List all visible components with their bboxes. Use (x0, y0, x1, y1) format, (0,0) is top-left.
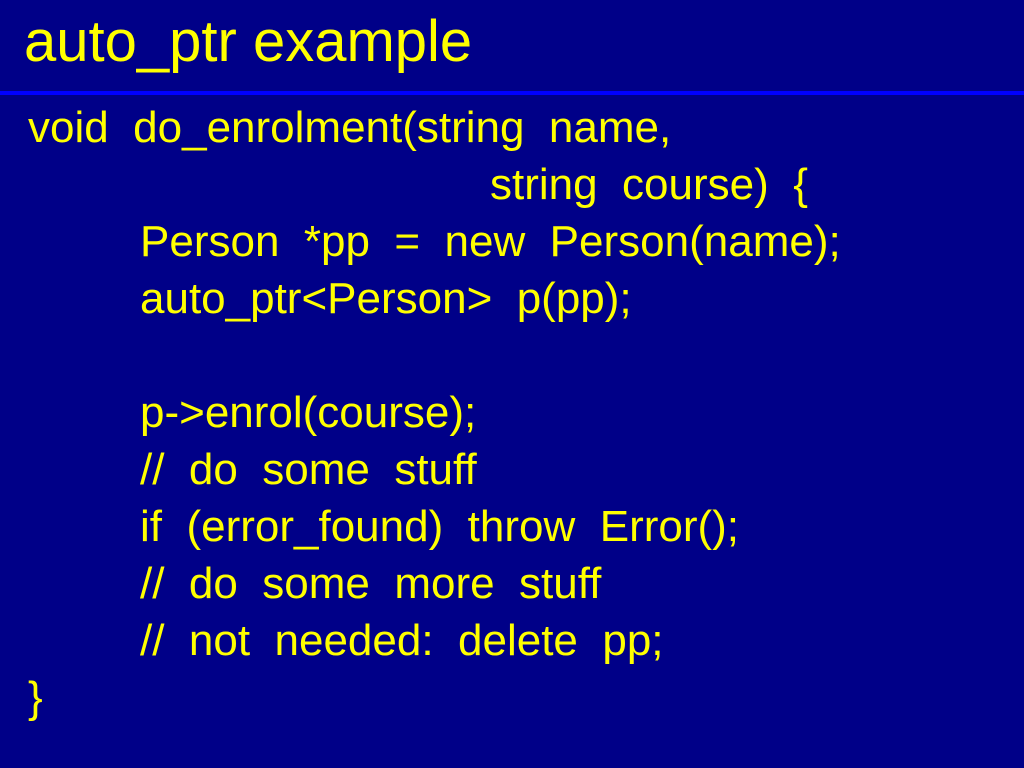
code-line (0, 327, 1024, 384)
code-line: // do some more stuff (0, 555, 1024, 612)
code-line: // not needed: delete pp; (0, 612, 1024, 669)
code-line: void do_enrolment(string name, (0, 99, 1024, 156)
page-title: auto_ptr example (24, 6, 472, 78)
code-line: auto_ptr<Person> p(pp); (0, 270, 1024, 327)
code-listing: void do_enrolment(string name,string cou… (0, 99, 1024, 726)
title-divider-rule (0, 91, 1024, 95)
code-line: Person *pp = new Person(name); (0, 213, 1024, 270)
code-line: if (error_found) throw Error(); (0, 498, 1024, 555)
code-line: // do some stuff (0, 441, 1024, 498)
slide-canvas: auto_ptr example void do_enrolment(strin… (0, 0, 1024, 768)
slide-title-area: auto_ptr example (0, 0, 1024, 92)
code-line: } (0, 669, 1024, 726)
code-line: string course) { (0, 156, 1024, 213)
code-line: p->enrol(course); (0, 384, 1024, 441)
